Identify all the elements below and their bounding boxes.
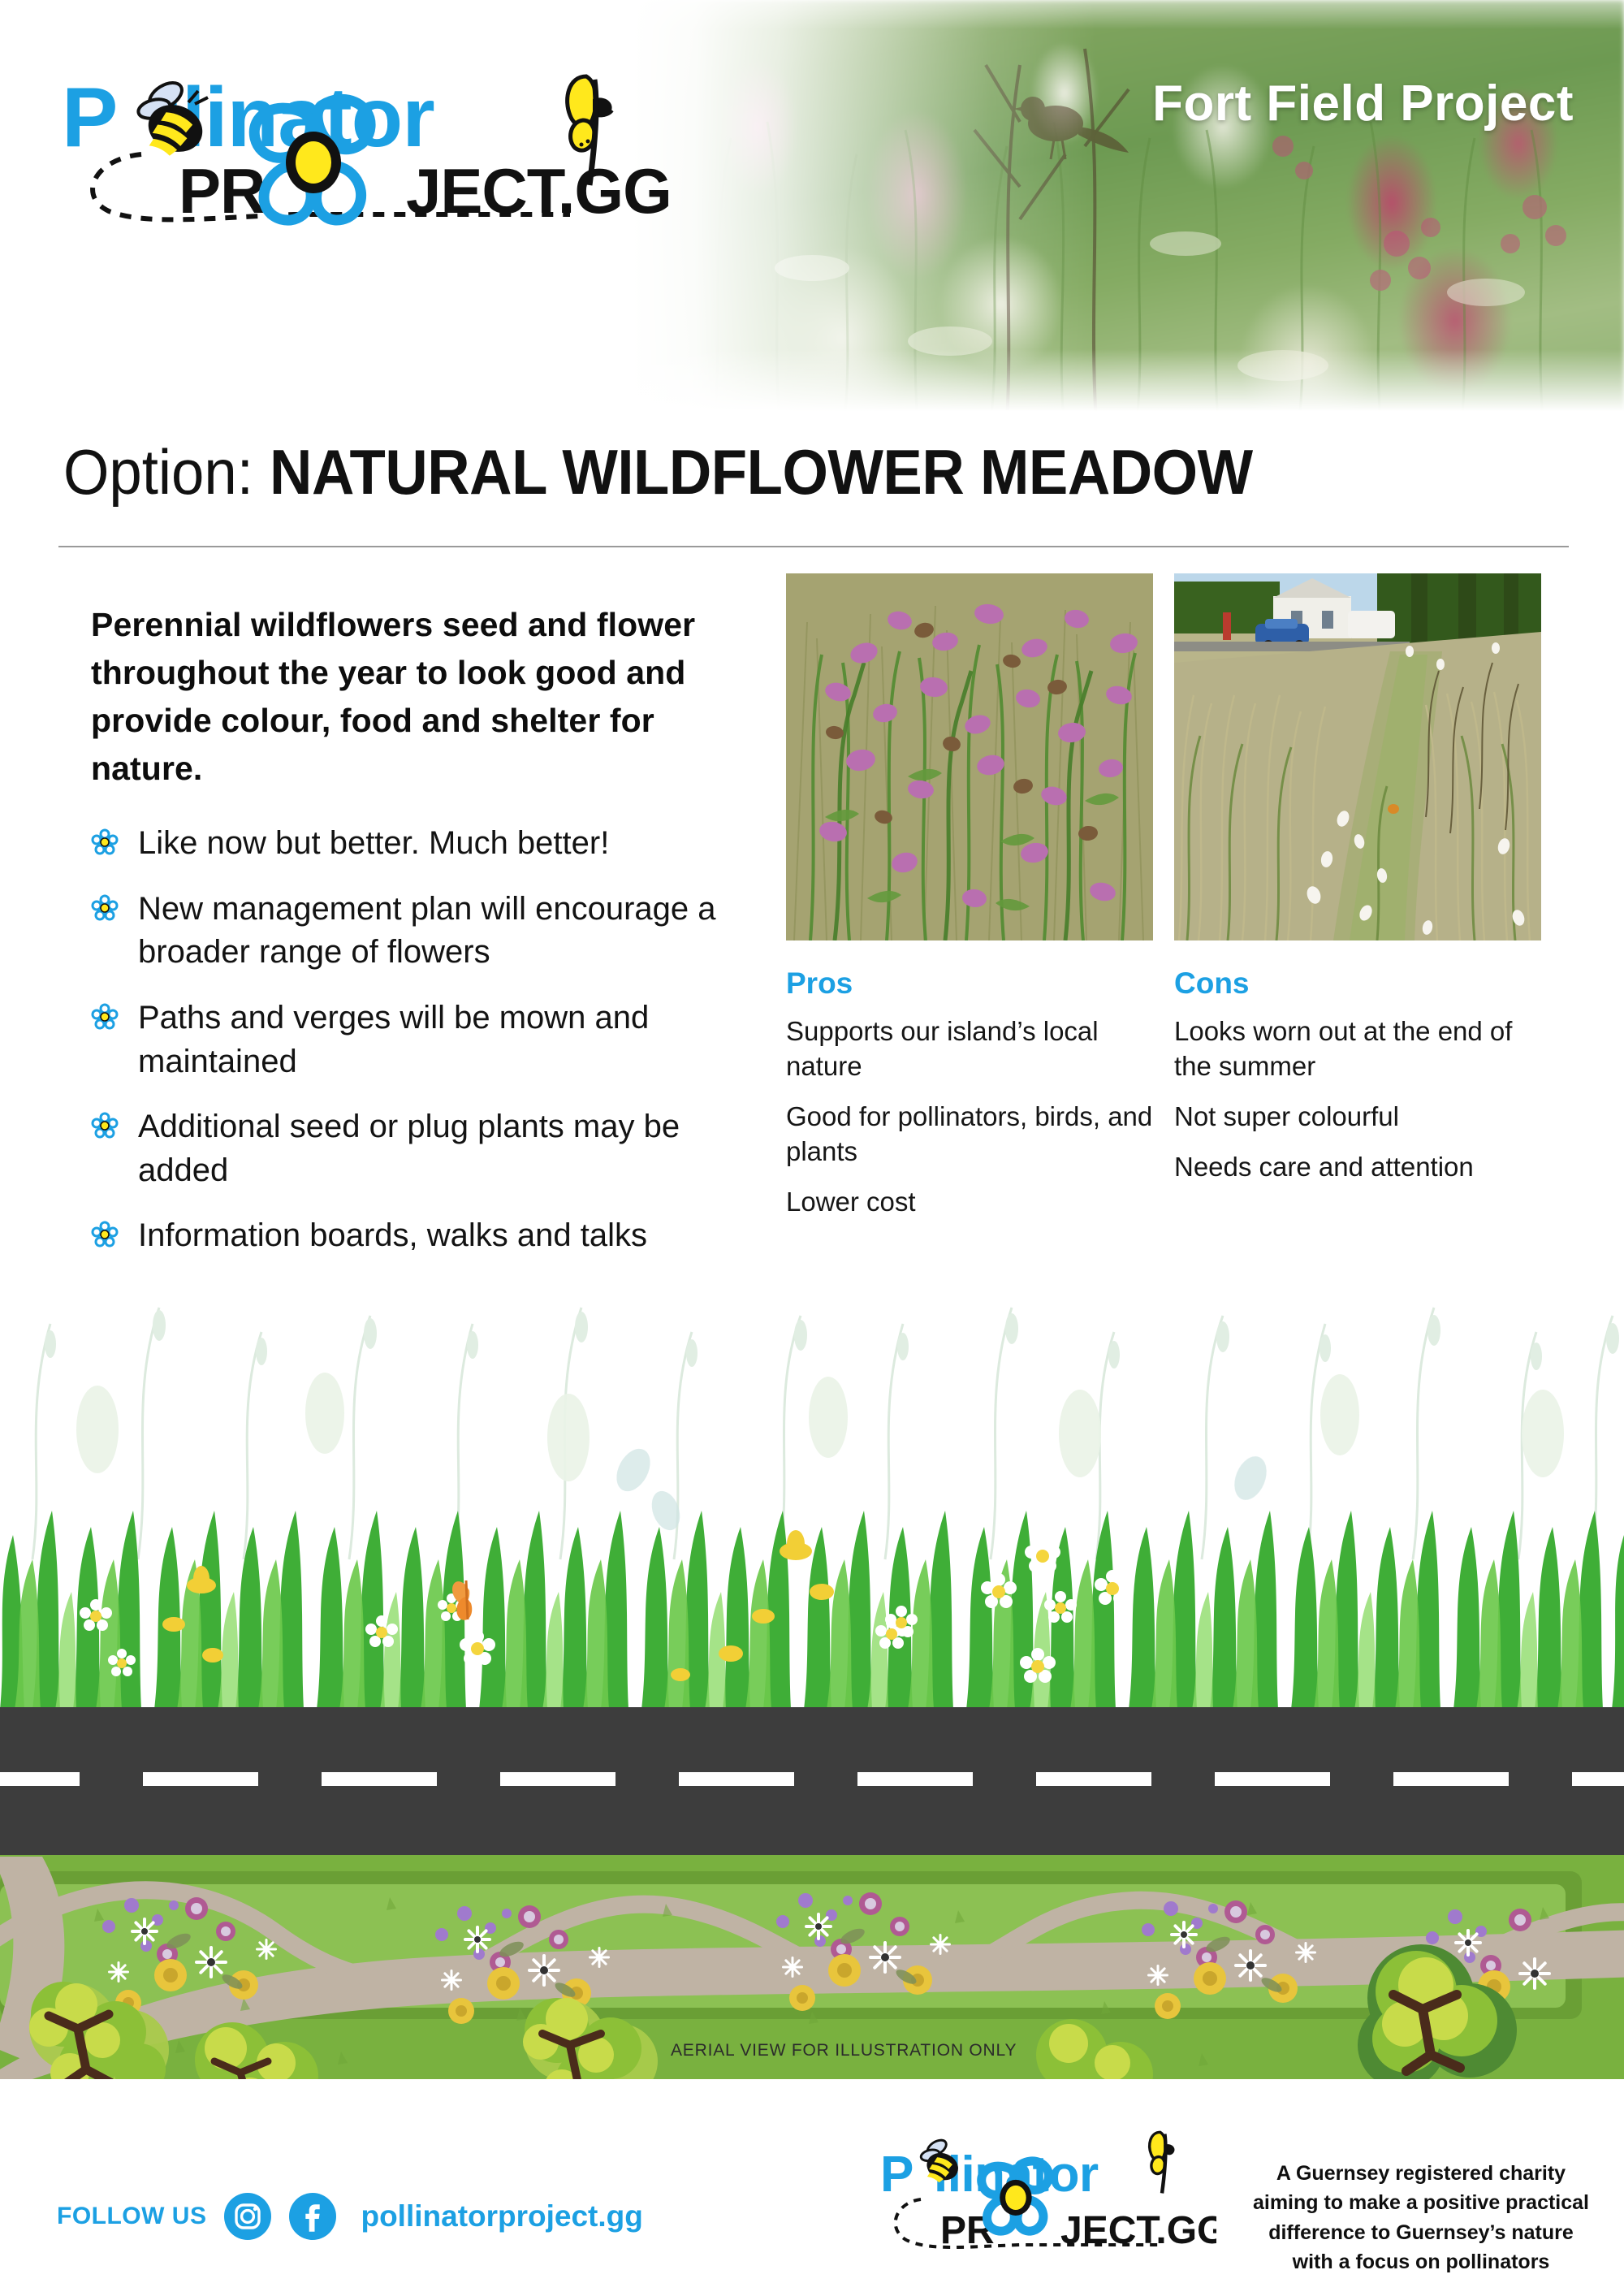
charity-line-3: difference to Guernsey’s nature — [1250, 2218, 1592, 2247]
flower-bullet-icon — [91, 894, 119, 922]
aerial-illustration — [0, 1267, 1624, 2079]
charity-line-2: aiming to make a positive practical — [1250, 2188, 1592, 2217]
pros-item: Supports our island’s local nature — [786, 1014, 1153, 1084]
flower-bullet-icon — [91, 1112, 119, 1139]
footer-logo-svg: P llinator — [875, 2125, 1216, 2264]
cons-heading: Cons — [1174, 966, 1541, 1001]
cons-item: Needs care and attention — [1174, 1150, 1541, 1185]
left-column: Perennial wildflowers seed and flower th… — [91, 601, 749, 1280]
option-heading: Option: NATURAL WILDFLOWER MEADOW — [63, 439, 1514, 506]
aerial-caption: AERIAL VIEW FOR ILLUSTRATION ONLY — [671, 2041, 1017, 2060]
main-content: Perennial wildflowers seed and flower th… — [0, 573, 1624, 1272]
list-item-label: Additional seed or plug plants may be ad… — [138, 1105, 749, 1192]
svg-text:P: P — [880, 2147, 913, 2203]
bullet-list: Like now but better. Much better! New ma… — [91, 822, 749, 1258]
list-item: New management plan will encourage a bro… — [91, 888, 749, 975]
follow-us-label: FOLLOW US — [57, 2203, 206, 2230]
flower-bullet-icon — [91, 1221, 119, 1248]
road — [0, 1707, 1624, 1855]
instagram-icon[interactable] — [224, 2193, 271, 2240]
footer-butterfly-icon — [1150, 2132, 1175, 2193]
svg-text:JECT.GG: JECT.GG — [1060, 2209, 1216, 2252]
flower-bullet-icon — [91, 828, 119, 856]
pros-column: Pros Supports our island’s local nature … — [786, 966, 1153, 1234]
cons-item: Looks worn out at the end of the summer — [1174, 1014, 1541, 1084]
pros-item: Good for pollinators, birds, and plants — [786, 1100, 1153, 1170]
aerial-illustration-svg — [0, 1267, 1624, 2079]
pollinator-project-logo: P llinator — [50, 63, 692, 226]
list-item: Like now but better. Much better! — [91, 822, 749, 866]
logo-word-jectgg: JECT.GG — [406, 155, 672, 226]
option-title-wrap: Option: NATURAL WILDFLOWER MEADOW — [0, 439, 1624, 506]
photo-mown-path — [1174, 573, 1541, 940]
list-item-label: Like now but better. Much better! — [138, 822, 609, 866]
list-item: Information boards, walks and talks — [91, 1214, 749, 1258]
hero-meadow-photo — [568, 0, 1624, 422]
facebook-icon[interactable] — [289, 2193, 336, 2240]
charity-line-4: with a focus on pollinators — [1250, 2247, 1592, 2277]
list-item-label: Paths and verges will be mown and mainta… — [138, 997, 749, 1083]
intro-paragraph: Perennial wildflowers seed and flower th… — [91, 601, 749, 793]
cons-column: Cons Looks worn out at the end of the su… — [1174, 966, 1541, 1234]
pros-item: Lower cost — [786, 1185, 1153, 1220]
option-heading-name: NATURAL WILDFLOWER MEADOW — [270, 436, 1253, 508]
right-column: Pros Supports our island’s local nature … — [786, 573, 1541, 1234]
pros-cons-row: Pros Supports our island’s local nature … — [786, 966, 1541, 1234]
cons-item: Not super colourful — [1174, 1100, 1541, 1135]
page-title: Fort Field Project — [1152, 75, 1574, 132]
photo-row — [786, 573, 1541, 940]
charity-line-1: A Guernsey registered charity — [1250, 2159, 1592, 2188]
poster: Fort Field Project P llinator — [0, 0, 1624, 2296]
hero-fade-bottom — [568, 349, 1624, 422]
flower-bullet-icon — [91, 1003, 119, 1031]
photo-knapweed-meadow — [786, 573, 1153, 940]
list-item-label: New management plan will encourage a bro… — [138, 888, 749, 975]
logo-svg: P llinator — [50, 63, 692, 226]
footer-pollinator-project-logo: P llinator — [875, 2125, 1216, 2264]
title-divider — [58, 546, 1569, 547]
logo-word-pollinator: P — [62, 71, 116, 165]
photo-knapweed-svg — [786, 573, 1153, 940]
list-item-label: Information boards, walks and talks — [138, 1214, 647, 1258]
list-item: Paths and verges will be mown and mainta… — [91, 997, 749, 1083]
poster-header: Fort Field Project P llinator — [0, 0, 1624, 422]
list-item: Additional seed or plug plants may be ad… — [91, 1105, 749, 1192]
option-heading-lead: Option: — [63, 436, 270, 508]
logo-word-pr: PR — [179, 155, 265, 226]
website-handle[interactable]: pollinatorproject.gg — [361, 2199, 642, 2233]
follow-us-group: FOLLOW US pollinatorproject.gg — [57, 2193, 643, 2240]
poster-footer: FOLLOW US pollinatorproject.gg P llinato… — [0, 2112, 1624, 2296]
charity-statement: A Guernsey registered charity aiming to … — [1250, 2159, 1592, 2277]
photo-mown-path-svg — [1174, 573, 1541, 940]
pros-heading: Pros — [786, 966, 1153, 1001]
